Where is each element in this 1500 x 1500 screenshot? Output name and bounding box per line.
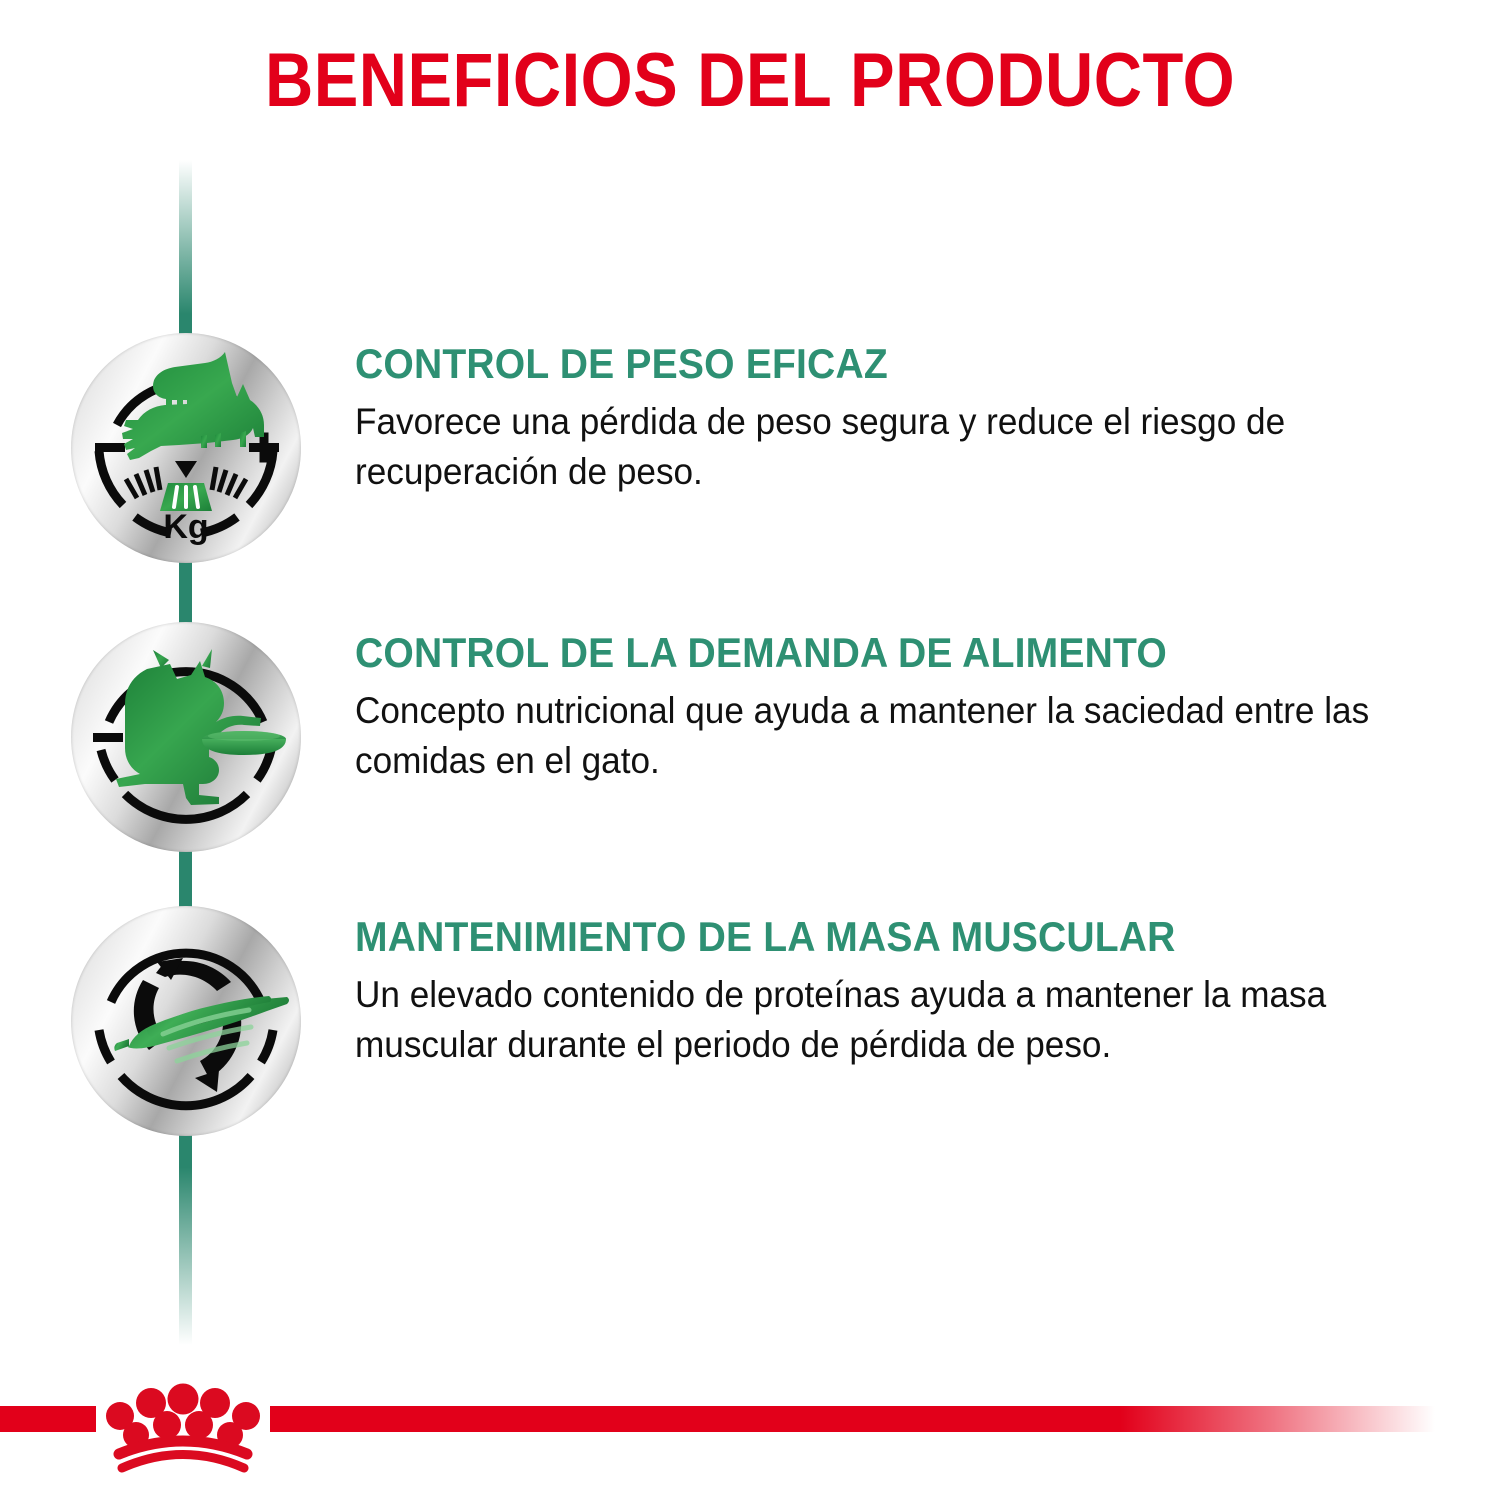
footer xyxy=(0,1370,1500,1500)
product-benefits-page: BENEFICIOS DEL PRODUCTO xyxy=(0,0,1500,1500)
royal-canin-crown-logo xyxy=(100,1380,265,1480)
benefit-row-weight-control: Kg CONTROL DE PESO EFICAZ Favorece una p… xyxy=(0,333,1500,583)
weight-scale-cat-kg-icon: Kg xyxy=(71,333,301,563)
cat-food-bowl-satiety-icon xyxy=(71,622,301,852)
benefit-text-block: CONTROL DE PESO EFICAZ Favorece una pérd… xyxy=(355,339,1465,497)
footer-bar-right xyxy=(270,1406,1435,1432)
icon-kg-label: Kg xyxy=(163,508,208,546)
footer-bar-left xyxy=(0,1406,96,1432)
benefit-description: Concepto nutricional que ayuda a mantene… xyxy=(355,686,1372,786)
benefit-title: MANTENIMIENTO DE LA MASA MUSCULAR xyxy=(355,912,1387,962)
benefit-row-food-demand: CONTROL DE LA DEMANDA DE ALIMENTO Concep… xyxy=(0,622,1500,872)
benefit-title: CONTROL DE LA DEMANDA DE ALIMENTO xyxy=(355,628,1387,678)
muscle-mass-arrows-icon xyxy=(71,906,301,1136)
benefit-text-block: MANTENIMIENTO DE LA MASA MUSCULAR Un ele… xyxy=(355,912,1465,1070)
benefit-row-muscle-mass: MANTENIMIENTO DE LA MASA MUSCULAR Un ele… xyxy=(0,906,1500,1156)
benefit-description: Un elevado contenido de proteínas ayuda … xyxy=(355,970,1372,1070)
page-title: BENEFICIOS DEL PRODUCTO xyxy=(90,38,1410,124)
benefit-title: CONTROL DE PESO EFICAZ xyxy=(355,339,1387,389)
benefit-description: Favorece una pérdida de peso segura y re… xyxy=(355,397,1372,497)
benefit-text-block: CONTROL DE LA DEMANDA DE ALIMENTO Concep… xyxy=(355,628,1465,786)
